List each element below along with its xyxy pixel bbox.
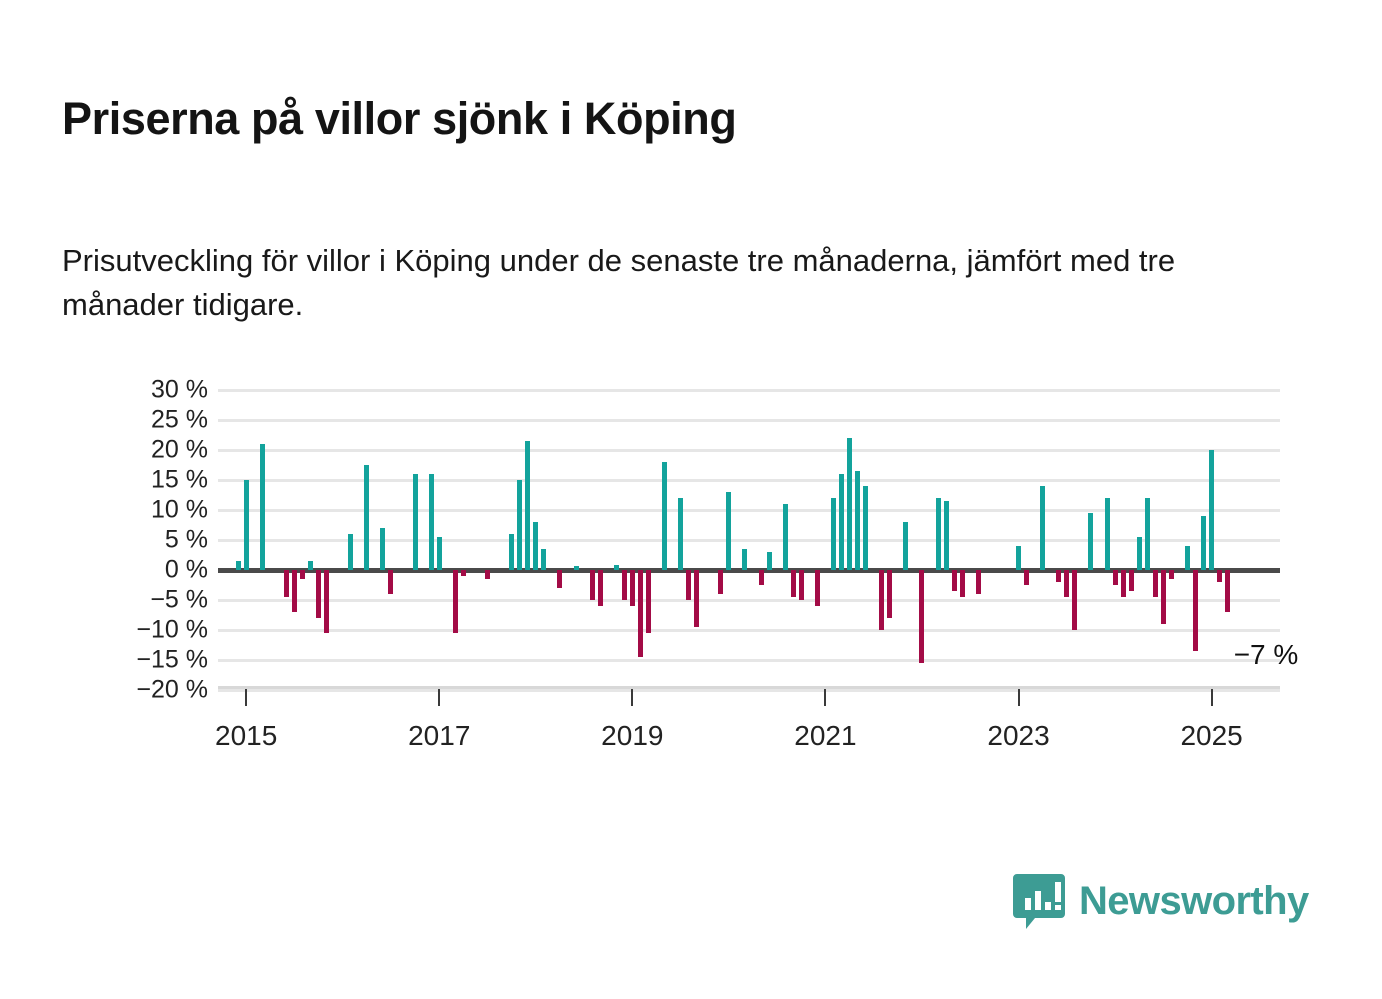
zero-line (218, 568, 1280, 573)
bar (791, 570, 796, 597)
bar (461, 570, 466, 576)
bar (1056, 570, 1061, 582)
gridline (218, 689, 1280, 692)
newsworthy-logo[interactable]: Newsworthy (1013, 872, 1309, 930)
bar (380, 528, 385, 570)
bar (324, 570, 329, 633)
page-subtitle: Prisutveckling för villor i Köping under… (62, 239, 1242, 327)
bar (1185, 546, 1190, 570)
bar (1161, 570, 1166, 624)
last-value-annotation: −7 % (1234, 639, 1299, 671)
bar (364, 465, 369, 570)
y-tick-label: −15 % (136, 648, 208, 673)
bar (1145, 498, 1150, 570)
chart-bars (0, 0, 1382, 999)
gridline (218, 389, 1280, 392)
bar (694, 570, 699, 627)
bar (533, 522, 538, 570)
y-tick-label: 25 % (151, 408, 208, 433)
x-tick-label: 2017 (408, 720, 470, 752)
page-title: Priserna på villor sjönk i Köping (62, 94, 736, 144)
bar (437, 537, 442, 570)
x-tick-label: 2025 (1180, 720, 1242, 752)
x-axis-baseline (218, 686, 1280, 689)
x-tick-mark (631, 689, 633, 706)
bar (284, 570, 289, 597)
bar (1169, 570, 1174, 579)
bar (815, 570, 820, 606)
bar (847, 438, 852, 570)
bar (919, 570, 924, 663)
bar (429, 474, 434, 570)
bar (742, 549, 747, 570)
bar (662, 462, 667, 570)
bar (863, 486, 868, 570)
gridline (218, 599, 1280, 602)
bar (960, 570, 965, 597)
bar (839, 474, 844, 570)
bar (1209, 450, 1214, 570)
x-tick-mark (438, 689, 440, 706)
x-tick-mark (245, 689, 247, 706)
bar (646, 570, 651, 633)
y-tick-label: 30 % (151, 378, 208, 403)
bar (300, 570, 305, 579)
bar (831, 498, 836, 570)
bar (1024, 570, 1029, 585)
y-tick-label: −10 % (136, 618, 208, 643)
bar (936, 498, 941, 570)
bar (598, 570, 603, 606)
gridline (218, 629, 1280, 632)
bar (1193, 570, 1198, 651)
bar (622, 570, 627, 600)
bar (1072, 570, 1077, 630)
y-tick-label: 15 % (151, 468, 208, 493)
y-tick-label: 5 % (165, 528, 208, 553)
bar (759, 570, 764, 585)
bar (855, 471, 860, 570)
bar (976, 570, 981, 594)
bar (638, 570, 643, 657)
x-tick-mark (1211, 689, 1213, 706)
bar (903, 522, 908, 570)
gridline (218, 449, 1280, 452)
x-tick-label: 2019 (601, 720, 663, 752)
bar (718, 570, 723, 594)
bar (799, 570, 804, 600)
x-tick-label: 2023 (987, 720, 1049, 752)
gridline (218, 539, 1280, 542)
bar (1113, 570, 1118, 585)
bar (1129, 570, 1134, 591)
bar (1217, 570, 1222, 582)
bar (686, 570, 691, 600)
bar (509, 534, 514, 570)
bar (517, 480, 522, 570)
bar (388, 570, 393, 594)
bar (614, 565, 619, 570)
bar (944, 501, 949, 570)
bar (525, 441, 530, 570)
bar (590, 570, 595, 600)
x-axis: 201520172019202120232025 (0, 0, 1382, 999)
bar (1121, 570, 1126, 597)
bar (1064, 570, 1069, 597)
bar (557, 570, 562, 588)
bar (574, 566, 579, 570)
bar (541, 549, 546, 570)
bar (767, 552, 772, 570)
bar (952, 570, 957, 591)
bar (453, 570, 458, 633)
bar (678, 498, 683, 570)
bar (308, 561, 313, 570)
bar (244, 480, 249, 570)
bar (630, 570, 635, 606)
y-tick-label: −20 % (136, 678, 208, 703)
x-tick-label: 2015 (215, 720, 277, 752)
bar (1225, 570, 1230, 612)
bar (316, 570, 321, 618)
bar (1137, 537, 1142, 570)
bar (236, 561, 241, 570)
bar (1088, 513, 1093, 570)
bar (783, 504, 788, 570)
bar (1105, 498, 1110, 570)
bar (879, 570, 884, 630)
bar-chart: 30 %25 %20 %15 %10 %5 %0 %−5 %−10 %−15 %… (0, 0, 1382, 999)
bar (726, 492, 731, 570)
bar (1016, 546, 1021, 570)
gridline (218, 509, 1280, 512)
gridline (218, 419, 1280, 422)
bar (485, 570, 490, 579)
bar (260, 444, 265, 570)
bar (1201, 516, 1206, 570)
chart-gridlines (0, 0, 1382, 999)
bar-chart-speech-bubble-icon (1013, 872, 1065, 930)
gridline (218, 479, 1280, 482)
x-tick-label: 2021 (794, 720, 856, 752)
y-tick-label: 0 % (165, 558, 208, 583)
bar (292, 570, 297, 612)
gridline (218, 659, 1280, 662)
bar (1153, 570, 1158, 597)
bar (887, 570, 892, 618)
y-tick-label: 10 % (151, 498, 208, 523)
y-tick-label: −5 % (150, 588, 208, 613)
logo-wordmark: Newsworthy (1079, 881, 1309, 921)
bar (413, 474, 418, 570)
y-tick-label: 20 % (151, 438, 208, 463)
bar (1040, 486, 1045, 570)
bar (348, 534, 353, 570)
x-tick-mark (824, 689, 826, 706)
x-tick-mark (1018, 689, 1020, 706)
